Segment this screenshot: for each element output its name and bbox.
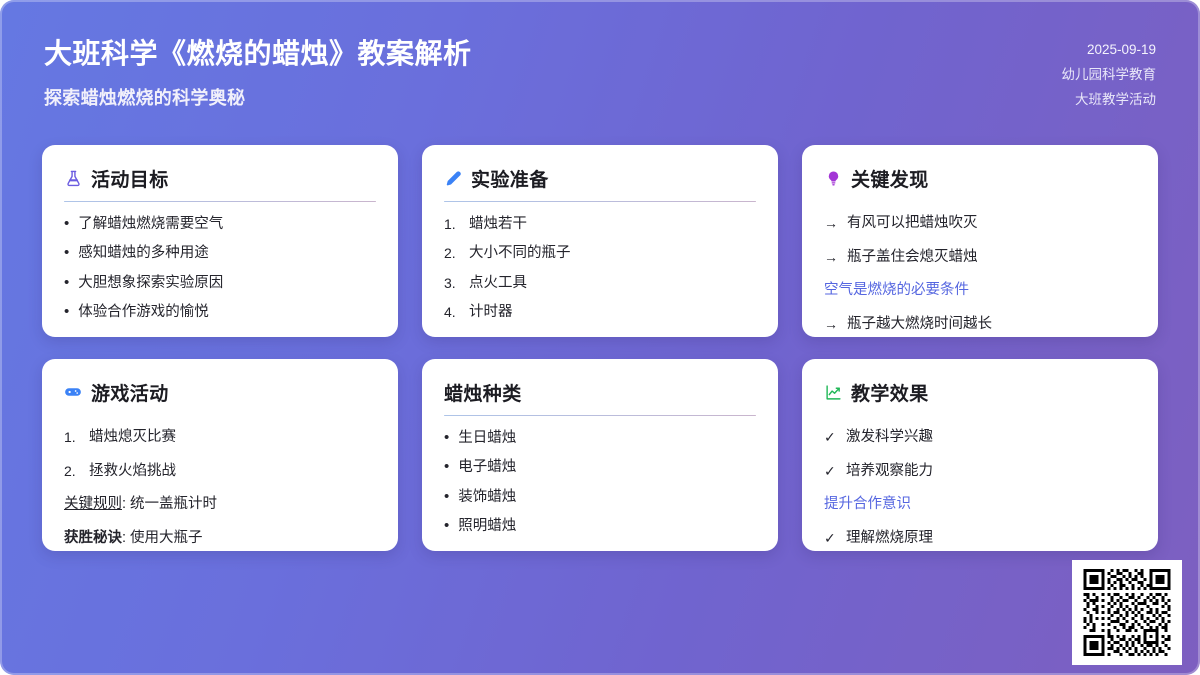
list-marker: • (64, 274, 69, 293)
list-marker: 1. (64, 428, 81, 447)
list-item: 空气是燃烧的必要条件 (824, 281, 1136, 301)
list-item-text: 点火工具 (469, 274, 527, 294)
gamepad-icon (64, 383, 82, 401)
list-item: 3.点火工具 (444, 274, 756, 294)
list-item: 关键规则: 统一盖瓶计时 (64, 495, 376, 515)
card: 活动目标•了解蜡烛燃烧需要空气•感知蜡烛的多种用途•大胆想象探索实验原因•体验合… (42, 145, 398, 337)
list-marker: 1. (444, 215, 461, 234)
list-item-text: 关键规则: 统一盖瓶计时 (64, 495, 217, 515)
card: 游戏活动1.蜡烛熄灭比赛2.拯救火焰挑战关键规则: 统一盖瓶计时获胜秘诀: 使用… (42, 359, 398, 551)
card-body: ✓激发科学兴趣✓培养观察能力提升合作意识✓理解燃烧原理 (824, 428, 1136, 551)
qr-code (1081, 569, 1173, 656)
list-item: •装饰蜡烛 (444, 488, 756, 508)
list-marker: • (444, 517, 449, 536)
list-item-text: 蜡烛熄灭比赛 (89, 428, 176, 448)
list-item-text: 激发科学兴趣 (846, 428, 933, 448)
list-item-text: 理解燃烧原理 (846, 529, 933, 549)
meta-date: 2025-09-19 (1062, 38, 1157, 63)
list-marker: • (444, 488, 449, 507)
list-item-text: 生日蜡烛 (458, 429, 516, 449)
list-item: →瓶子盖住会熄灭蜡烛 (824, 248, 1136, 268)
card-title: 实验准备 (471, 165, 549, 192)
list-item-rest: : 使用大瓶子 (122, 530, 203, 546)
card-header: 关键发现 (824, 165, 1136, 191)
lightbulb-icon (824, 169, 842, 187)
emphasis-bold: 获胜秘诀 (64, 530, 122, 546)
list-marker: • (444, 458, 449, 477)
qr-code-container[interactable] (1072, 560, 1182, 665)
card-header: 活动目标 (64, 165, 376, 191)
list-marker: • (64, 303, 69, 322)
slide-root: 大班科学《燃烧的蜡烛》教案解析 探索蜡烛燃烧的科学奥秘 2025-09-19 幼… (0, 0, 1200, 675)
list-item: 2.拯救火焰挑战 (64, 462, 376, 482)
list-item-text: 瓶子盖住会熄灭蜡烛 (847, 248, 978, 268)
list-item-text: 培养观察能力 (846, 462, 933, 482)
list-item: •体验合作游戏的愉悦 (64, 303, 376, 323)
list-item: →瓶子越大燃烧时间越长 (824, 315, 1136, 335)
list-marker: 2. (64, 462, 81, 481)
card-body: •生日蜡烛•电子蜡烛•装饰蜡烛•照明蜡烛 (444, 429, 756, 537)
list-marker: 2. (444, 244, 461, 263)
list-item: •照明蜡烛 (444, 517, 756, 537)
list-item: •生日蜡烛 (444, 429, 756, 449)
list-item-text: 了解蜡烛燃烧需要空气 (78, 215, 223, 235)
slide-header: 大班科学《燃烧的蜡烛》教案解析 探索蜡烛燃烧的科学奥秘 2025-09-19 幼… (0, 0, 1200, 132)
list-item: •电子蜡烛 (444, 458, 756, 478)
list-item: 2.大小不同的瓶子 (444, 244, 756, 264)
list-item: 获胜秘诀: 使用大瓶子 (64, 529, 376, 549)
card-title: 蜡烛种类 (444, 379, 522, 406)
header-left: 大班科学《燃烧的蜡烛》教案解析 探索蜡烛燃烧的科学奥秘 (44, 0, 472, 110)
list-item-text: 有风可以把蜡烛吹灭 (847, 214, 978, 234)
card-body: →有风可以把蜡烛吹灭→瓶子盖住会熄灭蜡烛空气是燃烧的必要条件→瓶子越大燃烧时间越… (824, 214, 1136, 337)
list-marker: ✓ (824, 529, 838, 548)
list-item: 1.蜡烛若干 (444, 215, 756, 235)
card-header: 蜡烛种类 (444, 379, 756, 405)
page-title: 大班科学《燃烧的蜡烛》教案解析 (44, 36, 472, 71)
meta-audience: 大班教学活动 (1062, 88, 1157, 113)
list-item-text: 空气是燃烧的必要条件 (824, 281, 969, 301)
list-item: ✓激发科学兴趣 (824, 428, 1136, 448)
list-marker: • (64, 215, 69, 234)
list-item-text: 电子蜡烛 (458, 458, 516, 478)
card-divider (64, 201, 376, 202)
list-item-text: 拯救火焰挑战 (89, 462, 176, 482)
list-item-text: 照明蜡烛 (458, 517, 516, 537)
card-title: 教学效果 (851, 379, 929, 406)
list-item-text: 大小不同的瓶子 (469, 244, 571, 264)
list-marker: ✓ (824, 462, 838, 481)
list-marker: • (444, 429, 449, 448)
card: 实验准备1.蜡烛若干2.大小不同的瓶子3.点火工具4.计时器 (422, 145, 778, 337)
list-item: →有风可以把蜡烛吹灭 (824, 214, 1136, 234)
list-item-text: 瓶子越大燃烧时间越长 (847, 315, 992, 335)
card: 关键发现→有风可以把蜡烛吹灭→瓶子盖住会熄灭蜡烛空气是燃烧的必要条件→瓶子越大燃… (802, 145, 1158, 337)
list-item-text: 装饰蜡烛 (458, 488, 516, 508)
card-title: 关键发现 (851, 165, 929, 192)
list-marker: 4. (444, 303, 461, 322)
list-item: 1.蜡烛熄灭比赛 (64, 428, 376, 448)
list-marker: → (824, 214, 839, 233)
list-item-rest: : 统一盖瓶计时 (122, 496, 217, 512)
card-header: 实验准备 (444, 165, 756, 191)
list-marker: • (64, 244, 69, 263)
flask-icon (64, 169, 82, 187)
page-subtitle: 探索蜡烛燃烧的科学奥秘 (44, 84, 472, 110)
list-item: 提升合作意识 (824, 495, 1136, 515)
card-title: 游戏活动 (91, 379, 169, 406)
list-item: ✓理解燃烧原理 (824, 529, 1136, 549)
list-item-text: 蜡烛若干 (469, 215, 527, 235)
header-meta: 2025-09-19 幼儿园科学教育 大班教学活动 (1062, 0, 1157, 113)
card-grid: 活动目标•了解蜡烛燃烧需要空气•感知蜡烛的多种用途•大胆想象探索实验原因•体验合… (42, 145, 1158, 551)
list-item-text: 大胆想象探索实验原因 (78, 274, 223, 294)
card-header: 教学效果 (824, 379, 1136, 405)
emphasis-underline: 关键规则 (64, 496, 122, 512)
list-item: ✓培养观察能力 (824, 462, 1136, 482)
meta-category: 幼儿园科学教育 (1062, 63, 1157, 88)
list-item: 4.计时器 (444, 303, 756, 323)
list-item-text: 体验合作游戏的愉悦 (78, 303, 209, 323)
list-item-text: 获胜秘诀: 使用大瓶子 (64, 529, 203, 549)
list-item-text: 提升合作意识 (824, 495, 911, 515)
list-item-text: 计时器 (469, 303, 513, 323)
card-title: 活动目标 (91, 165, 169, 192)
list-marker: ✓ (824, 428, 838, 447)
card: 教学效果✓激发科学兴趣✓培养观察能力提升合作意识✓理解燃烧原理 (802, 359, 1158, 551)
list-marker: → (824, 248, 839, 267)
list-marker: 3. (444, 274, 461, 293)
card-body: 1.蜡烛若干2.大小不同的瓶子3.点火工具4.计时器 (444, 215, 756, 323)
card: 蜡烛种类•生日蜡烛•电子蜡烛•装饰蜡烛•照明蜡烛 (422, 359, 778, 551)
card-body: •了解蜡烛燃烧需要空气•感知蜡烛的多种用途•大胆想象探索实验原因•体验合作游戏的… (64, 215, 376, 323)
card-body: 1.蜡烛熄灭比赛2.拯救火焰挑战关键规则: 统一盖瓶计时获胜秘诀: 使用大瓶子 (64, 428, 376, 551)
list-item-text: 感知蜡烛的多种用途 (78, 244, 209, 264)
list-item: •大胆想象探索实验原因 (64, 274, 376, 294)
card-header: 游戏活动 (64, 379, 376, 405)
card-divider (444, 415, 756, 416)
list-item: •了解蜡烛燃烧需要空气 (64, 215, 376, 235)
pencil-icon (444, 169, 462, 187)
list-marker: → (824, 315, 839, 334)
chart-icon (824, 383, 842, 401)
card-divider (444, 201, 756, 202)
list-item: •感知蜡烛的多种用途 (64, 244, 376, 264)
